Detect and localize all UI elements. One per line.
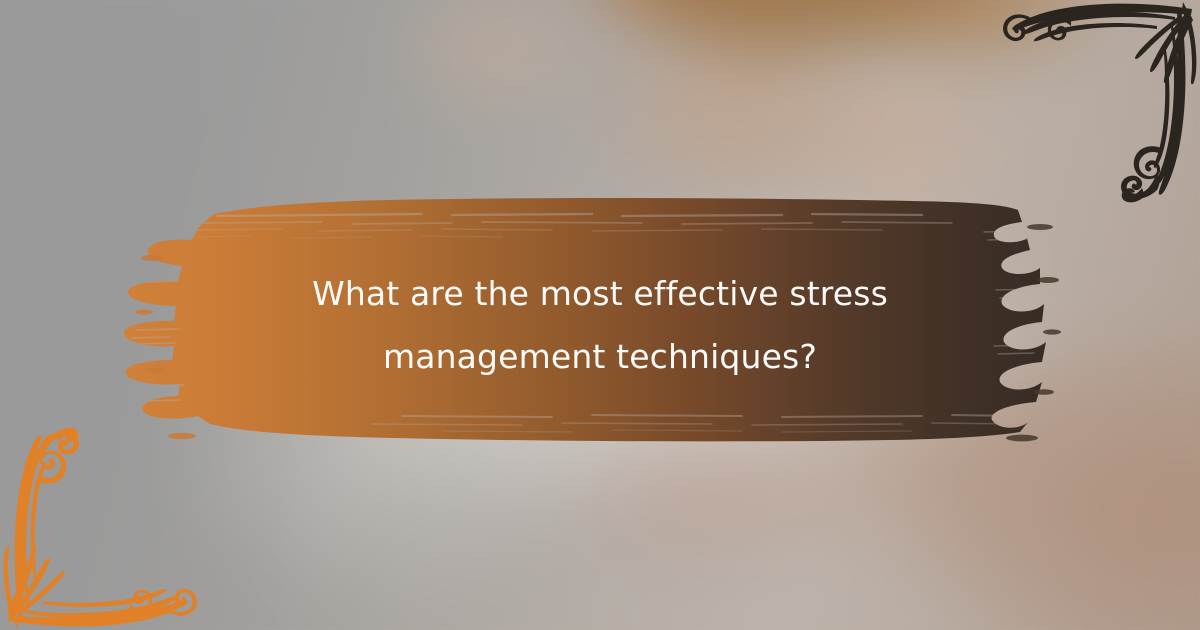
title-line-2: management techniques? bbox=[230, 325, 970, 388]
banner-card: What are the most effective stress manag… bbox=[0, 0, 1200, 630]
banner-title: What are the most effective stress manag… bbox=[230, 262, 970, 388]
title-line-1: What are the most effective stress bbox=[230, 262, 970, 325]
filigree-ornament-bottom-left-icon bbox=[0, 415, 215, 630]
filigree-ornament-top-right-icon bbox=[985, 0, 1200, 215]
